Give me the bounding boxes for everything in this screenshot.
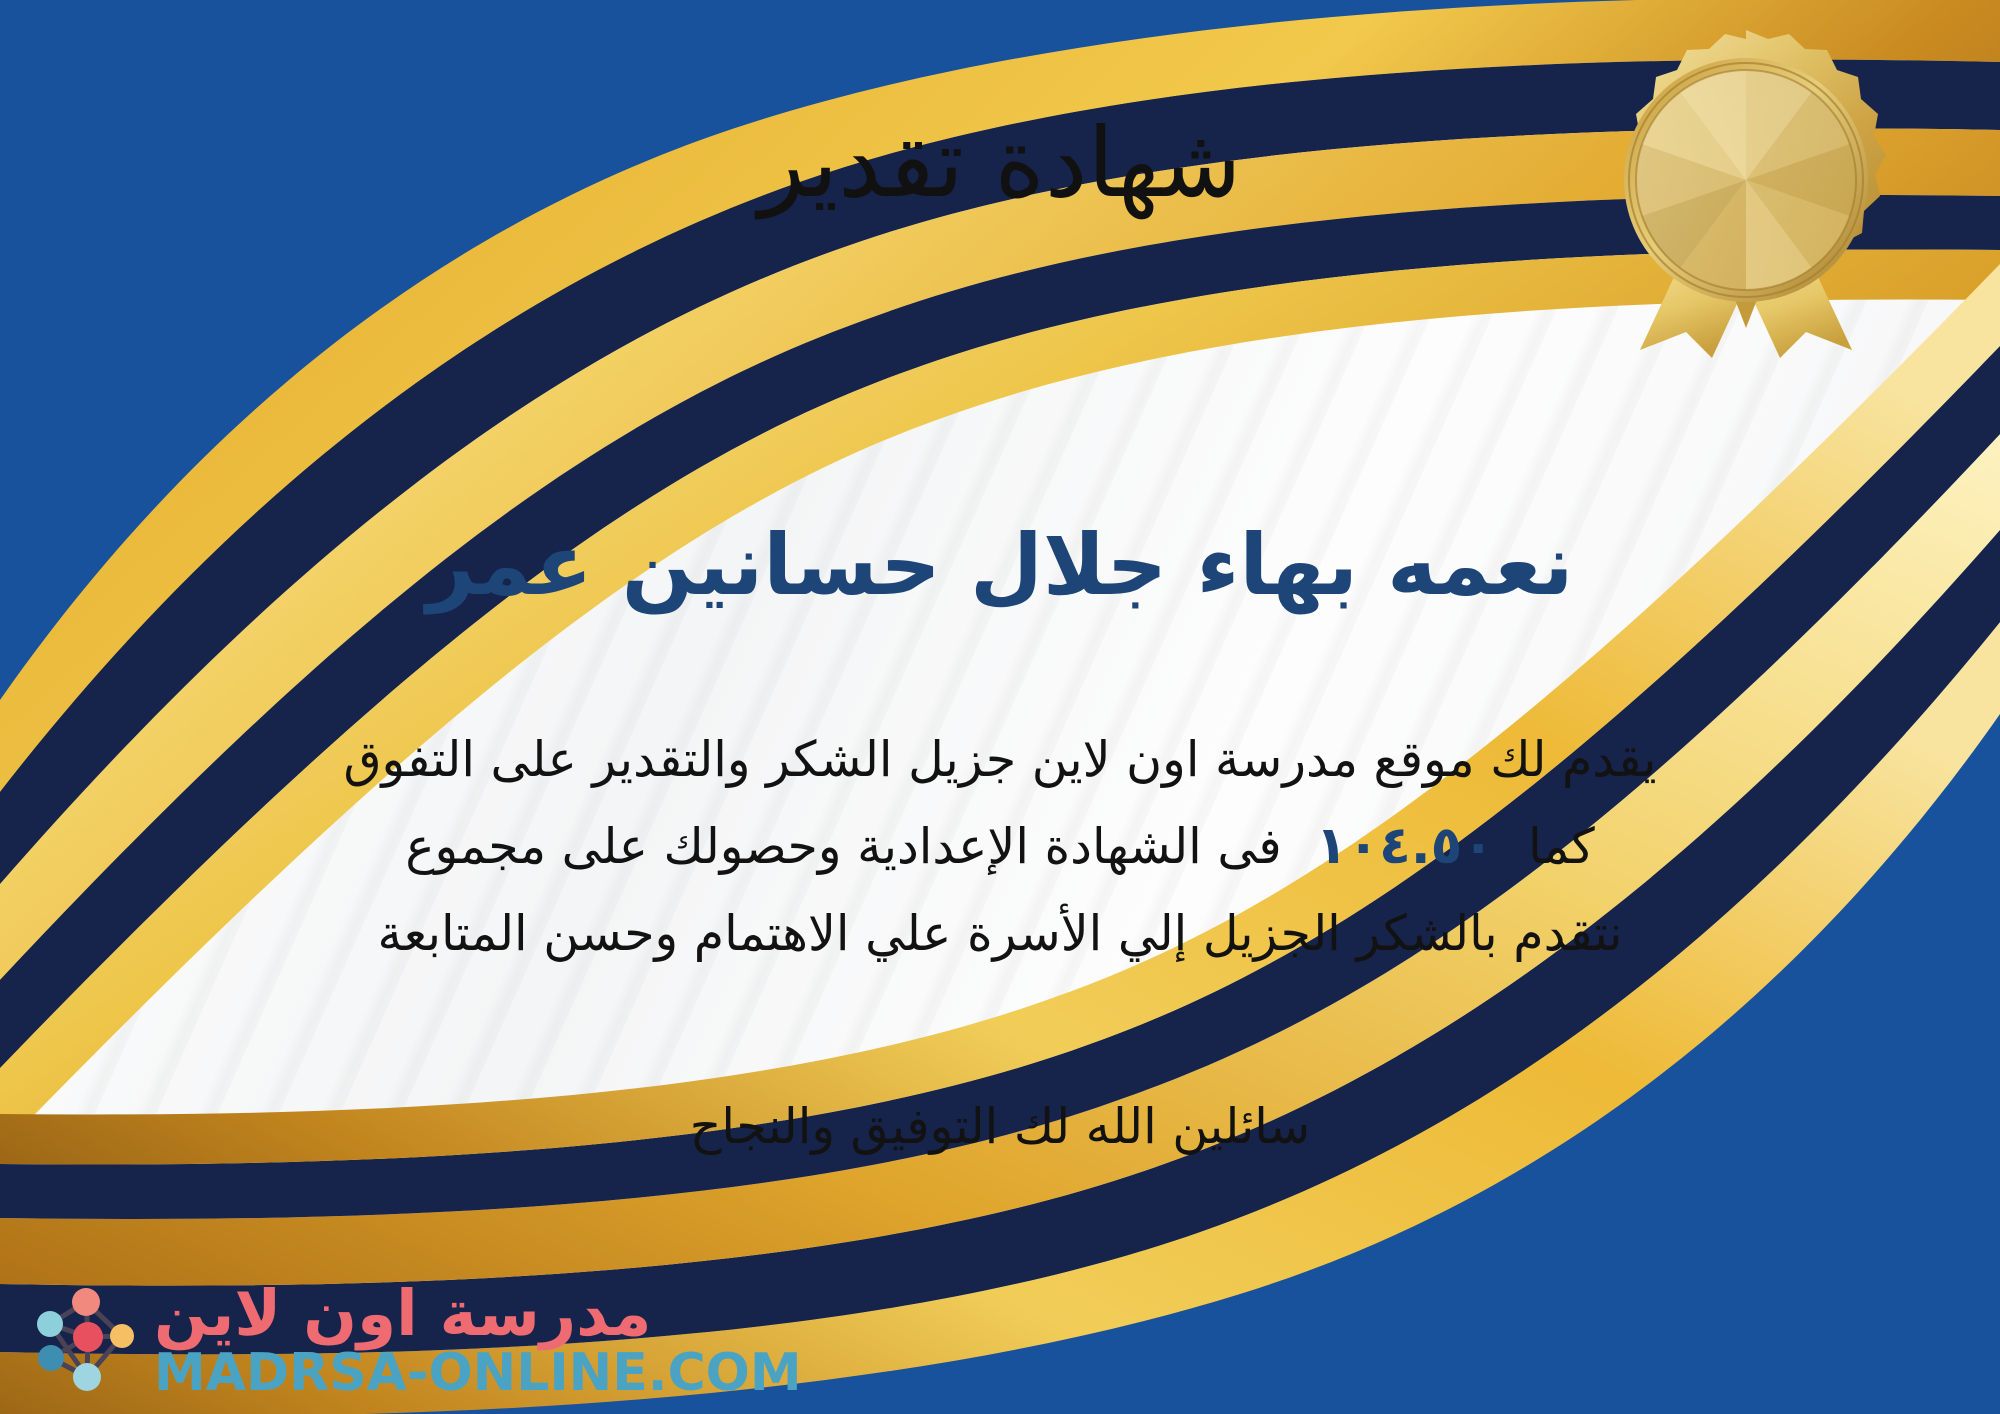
network-nodes-icon	[24, 1280, 144, 1400]
grade-total-value: ١٠٤.٥٠	[1282, 816, 1528, 876]
body-line-3: نتقدم بالشكر الجزيل إلي الأسرة علي الاهت…	[40, 892, 1960, 976]
body-line-1: يقدم لك موقع مدرسة اون لاين جزيل الشكر و…	[40, 718, 1960, 802]
brand-name-arabic: مدرسة اون لاين	[154, 1282, 651, 1345]
body-line-2: كما١٠٤.٥٠فى الشهادة الإعدادية وحصولك على…	[40, 802, 1960, 891]
body-line-2-suffix: كما	[1528, 818, 1595, 875]
closing-line: سائلين الله لك التوفيق والنجاح	[0, 1098, 2000, 1155]
brand-website: MADRSA-ONLINE.COM	[154, 1347, 802, 1399]
brand-logo[interactable]: مدرسة اون لاين MADRSA-ONLINE.COM	[24, 1280, 802, 1400]
certificate-body: يقدم لك موقع مدرسة اون لاين جزيل الشكر و…	[40, 718, 1960, 976]
page-title: شهادة تقدير	[0, 108, 2000, 218]
brand-wordmark: مدرسة اون لاين MADRSA-ONLINE.COM	[154, 1282, 802, 1399]
student-name: نعمه بهاء جلال حسانين عمر	[0, 515, 2000, 616]
body-line-2-prefix: فى الشهادة الإعدادية وحصولك على مجموع	[405, 818, 1281, 875]
certificate-canvas: شهادة تقدير نعمه بهاء جلال حسانين عمر يق…	[0, 0, 2000, 1414]
